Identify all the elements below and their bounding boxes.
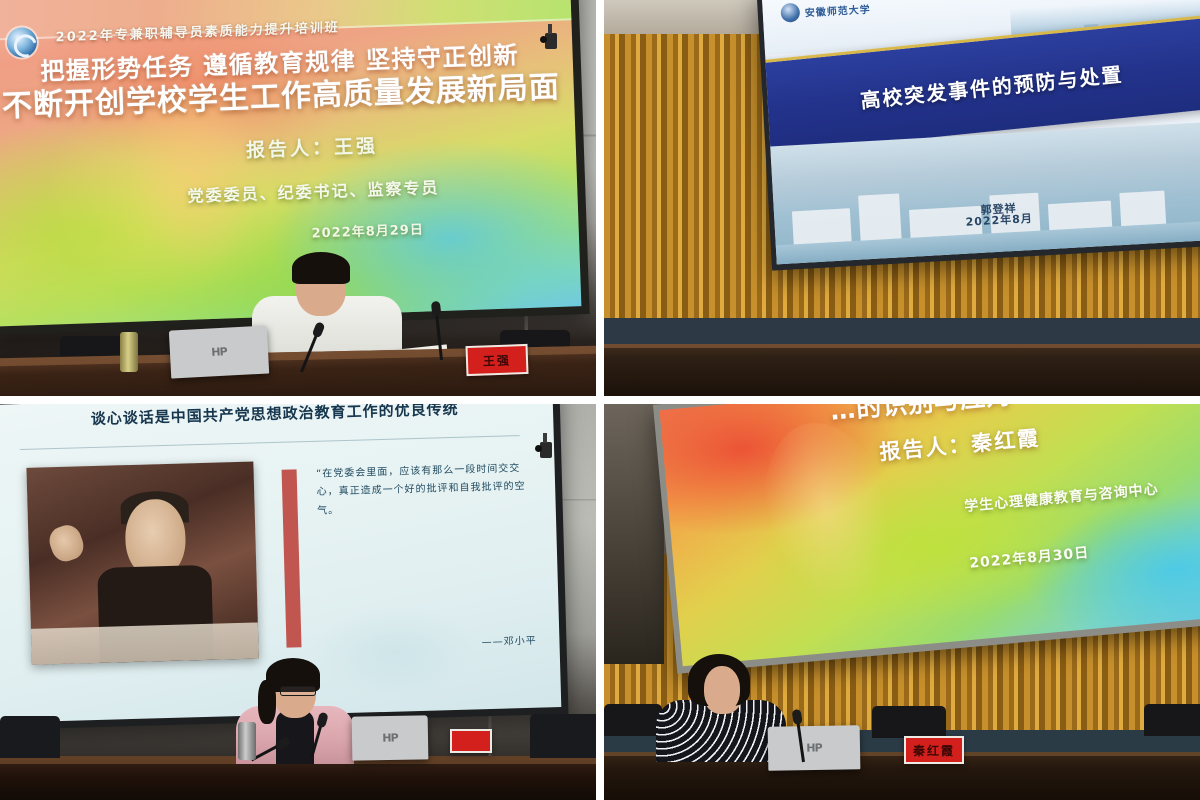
speaker-glasses-icon <box>280 686 316 696</box>
photo-panel-bottom-left: 谈心谈话是中国共产党思想政治教育工作的优良传统 “在党委会里面，应该有那么一段时… <box>0 400 600 800</box>
chair-back <box>530 714 596 758</box>
chair-back <box>872 706 946 738</box>
slide-title: 谈心谈话是中国共产党思想政治教育工作的优良传统 <box>13 404 536 432</box>
university-name: 安徽师范大学 <box>804 1 871 20</box>
photo-subject-hand <box>46 521 88 565</box>
side-wall <box>604 404 664 664</box>
slide-historic-photo <box>26 461 259 664</box>
slide-accent-bar <box>282 469 302 647</box>
speaker-face <box>704 666 740 712</box>
university-crest-icon <box>780 3 800 23</box>
name-plate: 王强 <box>465 344 528 376</box>
security-camera-icon <box>545 33 557 49</box>
photo-panel-bottom-right: …的识别与应对 报告人：秦红霞 学生心理健康教育与咨询中心 2022年8月30日 <box>600 400 1200 800</box>
photo-panel-top-right: 安徽师范大学 高校突发事件的预防与处置 郭登祥 2022年 <box>600 0 1200 400</box>
laptop[interactable] <box>352 715 429 760</box>
photo-table <box>31 623 259 665</box>
slide-surface: 2022年专兼职辅导员素质能力提升培训班 把握形势任务 遵循教育规律 坚持守正创… <box>0 0 581 327</box>
slide-divider <box>20 435 520 450</box>
name-plate-text: 秦红霞 <box>906 738 962 762</box>
photo-collage: 2022年专兼职辅导员素质能力提升培训班 把握形势任务 遵循教育规律 坚持守正创… <box>0 0 1200 800</box>
speaker-hair <box>292 252 350 284</box>
speaker-inner-top <box>276 710 314 764</box>
name-plate <box>450 729 492 753</box>
speaker-ponytail <box>258 680 276 724</box>
security-camera-icon <box>540 442 552 458</box>
slide-surface: 安徽师范大学 高校突发事件的预防与处置 郭登祥 2022年 <box>762 0 1200 264</box>
slide-quote: “在党委会里面，应该有那么一段时间交交心，真正造成一个好的批评和自我批评的空气。 <box>316 460 533 522</box>
projection-screen-2: 安徽师范大学 高校突发事件的预防与处置 郭登祥 2022年 <box>757 0 1200 271</box>
projection-screen-4: …的识别与应对 报告人：秦红霞 学生心理健康教育与咨询中心 2022年8月30日 <box>653 404 1200 674</box>
laptop[interactable] <box>768 725 861 771</box>
projection-screen-1: 2022年专兼职辅导员素质能力提升培训班 把握形势任务 遵循教育规律 坚持守正创… <box>0 0 590 335</box>
slide-date: 2022年8月30日 <box>968 530 1200 573</box>
desk-front-panel <box>604 318 1200 344</box>
name-plate-text: 王强 <box>468 346 527 374</box>
podium-desk <box>604 340 1200 396</box>
slide-title: 高校突发事件的预防与处置 <box>762 47 1200 125</box>
chair-back <box>604 704 662 736</box>
tumbler-cup <box>238 722 256 760</box>
microphone-head <box>431 301 442 317</box>
laptop[interactable] <box>169 325 269 378</box>
chair-back <box>0 716 60 758</box>
slide-department: 学生心理健康教育与咨询中心 <box>963 470 1200 516</box>
tumbler-cup <box>120 332 138 372</box>
slide-campus-photo: 郭登祥 2022年8月 <box>770 121 1200 264</box>
name-plate: 秦红霞 <box>904 736 964 764</box>
photo-panel-top-left: 2022年专兼职辅导员素质能力提升培训班 把握形势任务 遵循教育规律 坚持守正创… <box>0 0 600 400</box>
chair-back <box>1144 704 1200 736</box>
